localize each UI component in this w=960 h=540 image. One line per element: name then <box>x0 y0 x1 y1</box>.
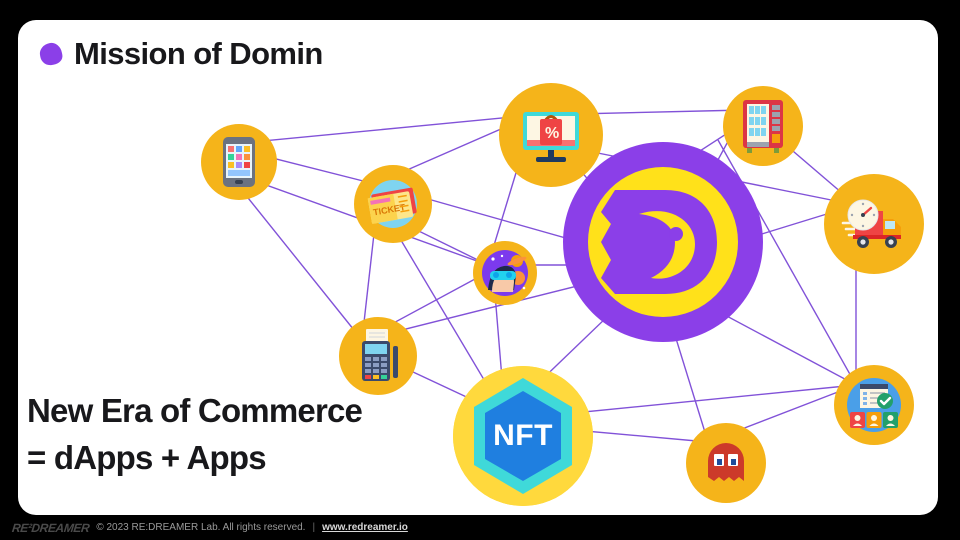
nft-label: NFT <box>493 421 553 451</box>
footer-separator: | <box>312 522 315 533</box>
teardrop-bullet-icon <box>38 41 63 66</box>
pos-terminal-icon[interactable] <box>339 317 417 395</box>
metaverse-vr-icon[interactable] <box>473 241 537 305</box>
page-title-text: Mission of Domin <box>74 38 323 69</box>
slide-root: NFT <box>0 0 960 540</box>
nft-badge[interactable]: NFT <box>453 366 593 506</box>
ticket-icon[interactable]: TICKET <box>354 165 432 243</box>
headline-line-1: New Era of Commerce <box>27 388 362 435</box>
headline: New Era of Commerce = dApps + Apps <box>27 388 362 482</box>
smartphone-apps-icon[interactable] <box>201 124 277 200</box>
arcade-ghost-icon[interactable] <box>686 423 766 503</box>
headline-line-2: = dApps + Apps <box>27 435 362 482</box>
svg-text:%: % <box>545 125 559 142</box>
footer-website-link[interactable]: www.redreamer.io <box>322 522 408 533</box>
footer-copyright: © 2023 RE:DREAMER Lab. All rights reserv… <box>96 522 305 533</box>
delivery-truck-icon[interactable] <box>824 174 924 274</box>
slide-card: NFT <box>18 20 938 515</box>
footer: RE²DREAMER © 2023 RE:DREAMER Lab. All ri… <box>0 515 960 540</box>
redreamer-logo: RE²DREAMER <box>11 521 90 535</box>
page-title: Mission of Domin <box>40 38 323 69</box>
membership-crm-icon[interactable] <box>834 365 914 445</box>
domin-logo[interactable] <box>563 142 763 342</box>
